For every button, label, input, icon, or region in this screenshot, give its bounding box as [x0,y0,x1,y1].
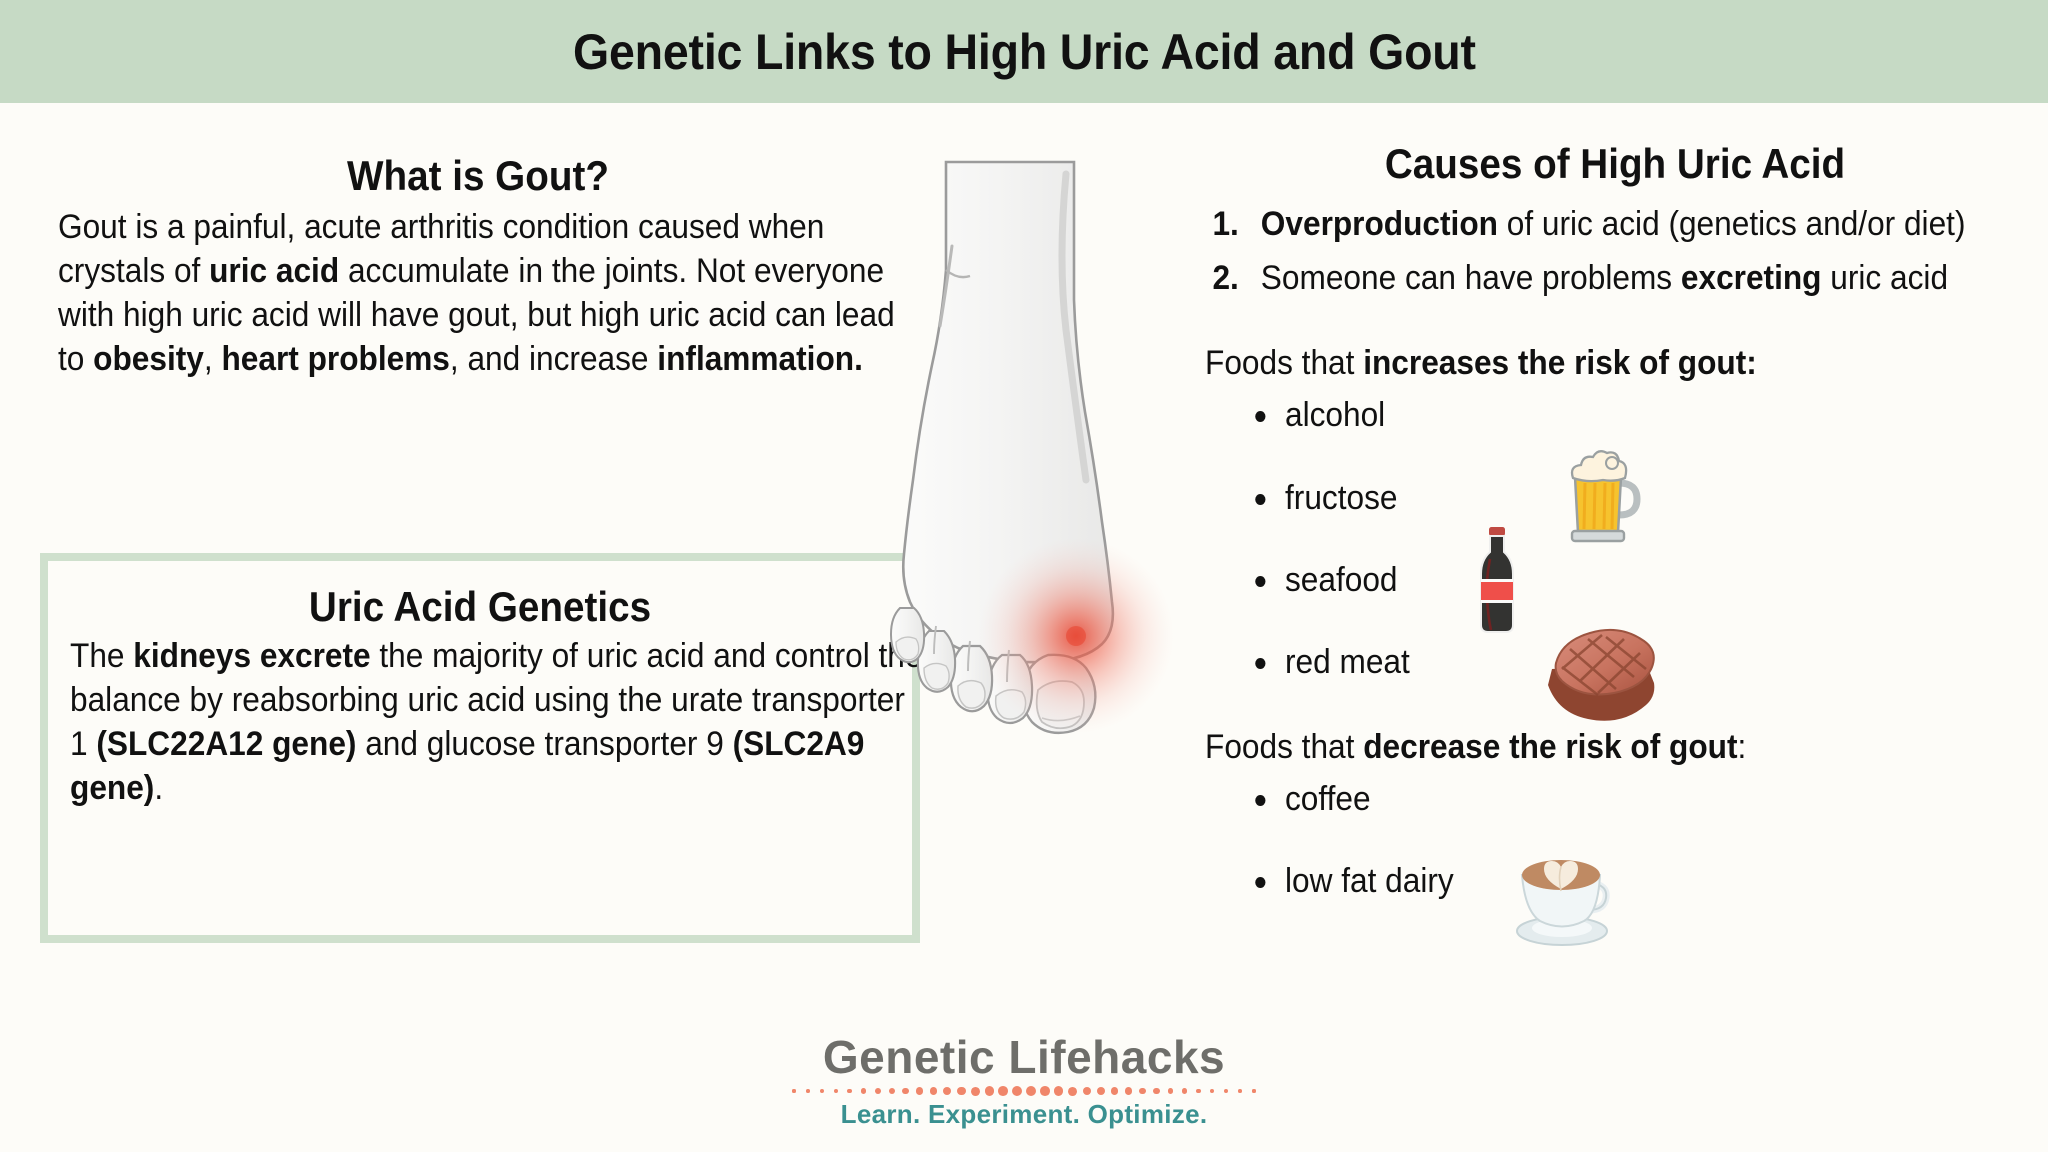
list-item: seafood [1285,558,1973,602]
uric-acid-genetics-box: Uric Acid Genetics The kidneys excrete t… [40,553,920,943]
list-text: Someone can have problems excreting uric… [1261,259,1948,297]
uric-acid-genetics-heading: Uric Acid Genetics [83,583,878,631]
list-item: coffee [1285,777,1973,821]
what-is-gout-paragraph: Gout is a painful, acute arthritis condi… [58,206,900,381]
site-logo: Genetic Lifehacks Learn. Experiment. Opt… [0,1030,2048,1130]
page-header: Genetic Links to High Uric Acid and Gout [0,0,2048,103]
logo-tagline: Learn. Experiment. Optimize. [0,1099,2048,1130]
steak-image [1540,619,1660,734]
left-column: What is Gout? Gout is a painful, acute a… [58,152,898,381]
increase-risk-heading: Foods that increases the risk of gout: [1205,344,1968,383]
page-title: Genetic Links to High Uric Acid and Gout [573,23,1476,81]
list-item: 1. Overproduction of uric acid (genetics… [1205,202,1968,246]
uric-acid-genetics-paragraph: The kidneys excrete the majority of uric… [70,635,930,810]
latte-cup-image [1510,845,1620,955]
list-item: alcohol [1285,393,1973,437]
list-item: 2. Someone can have problems excreting u… [1205,256,1968,300]
list-item: low fat dairy [1285,859,1973,903]
cola-bottle-image [1475,525,1519,642]
list-number: 2. [1212,256,1238,300]
logo-brand-text: Genetic Lifehacks [0,1030,2048,1084]
what-is-gout-heading: What is Gout? [92,152,865,200]
logo-dot-divider [794,1085,1254,1097]
beer-mug-image [1553,449,1643,550]
list-text: Overproduction of uric acid (genetics an… [1261,205,1966,243]
causes-list: 1. Overproduction of uric acid (genetics… [1205,202,2025,300]
causes-of-high-uric-acid-heading: Causes of High Uric Acid [1238,140,1992,188]
foot-with-gout-flare-illustration [880,150,1180,740]
list-number: 1. [1212,202,1238,246]
